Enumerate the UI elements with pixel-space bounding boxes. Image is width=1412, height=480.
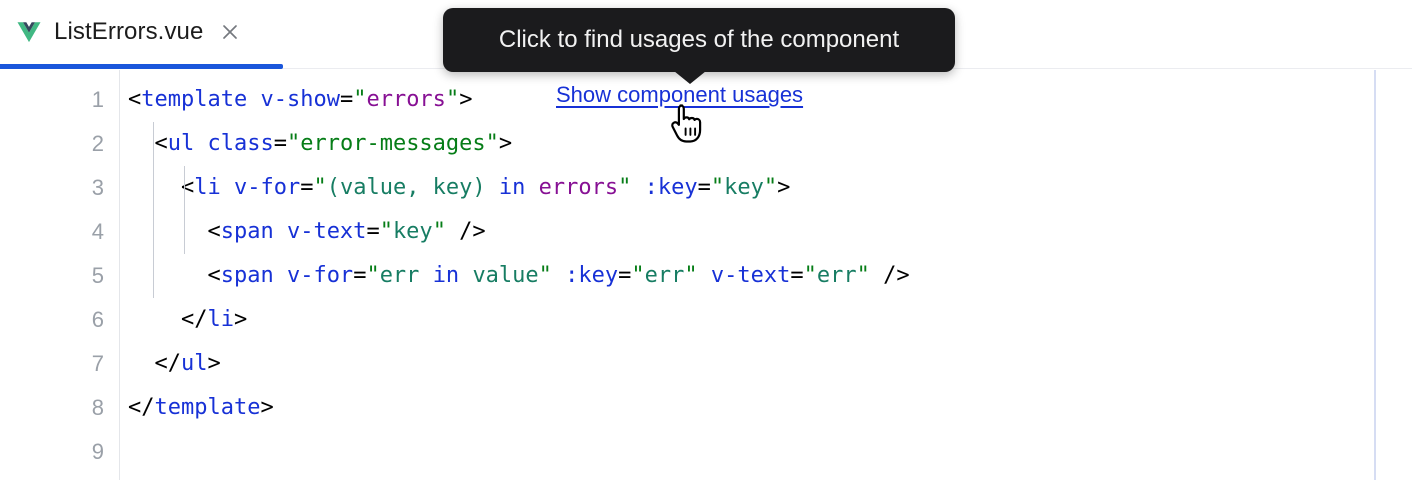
code-token: = (340, 87, 353, 112)
tooltip-arrow (674, 71, 706, 84)
code-line[interactable] (121, 430, 1412, 474)
code-token: errors (539, 175, 618, 200)
code-token (486, 175, 499, 200)
code-token (459, 263, 472, 288)
code-token (525, 175, 538, 200)
code-token: " (446, 87, 459, 112)
code-token: " (618, 175, 631, 200)
code-token (698, 263, 711, 288)
code-token: < (128, 131, 168, 156)
code-line[interactable]: <ul class="error-messages"> (121, 122, 1412, 166)
code-token: > (459, 87, 472, 112)
code-token: /> (870, 263, 910, 288)
vue-logo-icon (16, 19, 42, 45)
line-number: 3 (0, 166, 104, 210)
code-token: value (472, 263, 538, 288)
code-token: > (499, 131, 512, 156)
tooltip-popup: Click to find usages of the component (443, 8, 955, 72)
code-token: :key (565, 263, 618, 288)
code-token (194, 131, 207, 156)
line-number: 5 (0, 254, 104, 298)
line-number-column: 123456789 (0, 78, 104, 474)
close-icon[interactable] (219, 21, 241, 43)
code-token: " (857, 263, 870, 288)
code-line[interactable]: <li v-for="(value, key) in errors" :key=… (121, 166, 1412, 210)
code-token: /> (446, 219, 486, 244)
code-token: = (366, 219, 379, 244)
ide-editor-window: ListErrors.vue 123456789 <template v-sho… (0, 0, 1412, 480)
code-token: </ (128, 307, 207, 332)
code-token: " (684, 263, 697, 288)
line-number: 2 (0, 122, 104, 166)
code-token: v-show (260, 87, 339, 112)
code-token: < (128, 87, 141, 112)
code-line[interactable]: </template> (121, 386, 1412, 430)
code-token: class (208, 131, 274, 156)
code-token: v-for (234, 175, 300, 200)
tooltip-text: Click to find usages of the component (499, 26, 899, 54)
code-token: " (539, 263, 552, 288)
code-token (631, 175, 644, 200)
code-token: = (274, 131, 287, 156)
indent-guide (184, 166, 185, 254)
code-line[interactable]: <span v-for="err in value" :key="err" v-… (121, 254, 1412, 298)
code-token (274, 263, 287, 288)
line-number: 1 (0, 78, 104, 122)
code-token: "error-messages" (287, 131, 499, 156)
code-token: v-for (287, 263, 353, 288)
code-token (247, 87, 260, 112)
code-token (274, 219, 287, 244)
code-content[interactable]: <template v-show="errors"> <ul class="er… (121, 78, 1412, 474)
indent-guide (153, 122, 154, 298)
code-token: " (380, 219, 393, 244)
code-token: in (433, 263, 460, 288)
code-token: < (128, 263, 221, 288)
code-token: err (380, 263, 420, 288)
code-token: li (207, 307, 234, 332)
line-number: 8 (0, 386, 104, 430)
show-component-usages-link[interactable]: Show component usages (556, 82, 803, 108)
code-token: key (724, 175, 764, 200)
code-token: " (711, 175, 724, 200)
code-token: ul (181, 351, 208, 376)
code-token (221, 175, 234, 200)
code-token: ul (168, 131, 195, 156)
editor-tab-list-errors-vue[interactable]: ListErrors.vue (0, 0, 283, 64)
code-token: err (817, 263, 857, 288)
line-number: 6 (0, 298, 104, 342)
code-token: li (194, 175, 221, 200)
code-token (552, 263, 565, 288)
code-token: " (764, 175, 777, 200)
code-token: " (433, 219, 446, 244)
code-line[interactable]: </li> (121, 298, 1412, 342)
code-token: = (698, 175, 711, 200)
code-token: = (790, 263, 803, 288)
code-token: template (141, 87, 247, 112)
line-number: 9 (0, 430, 104, 474)
code-token: = (618, 263, 631, 288)
code-token: key (393, 219, 433, 244)
code-token: = (353, 263, 366, 288)
code-token: span (221, 219, 274, 244)
code-token: :key (645, 175, 698, 200)
code-token: " (804, 263, 817, 288)
code-token: </ (128, 351, 181, 376)
code-token: > (260, 395, 273, 420)
code-token (419, 263, 432, 288)
code-token: " (353, 87, 366, 112)
code-editor-area[interactable]: 123456789 <template v-show="errors"> <ul… (0, 70, 1412, 480)
code-token: < (128, 219, 221, 244)
code-token: > (207, 351, 220, 376)
code-token: v-text (711, 263, 790, 288)
code-token: in (499, 175, 526, 200)
code-line[interactable]: <span v-text="key" /> (121, 210, 1412, 254)
code-token: span (221, 263, 274, 288)
line-number: 7 (0, 342, 104, 386)
code-token: template (155, 395, 261, 420)
code-token: > (234, 307, 247, 332)
code-token: (value, key) (327, 175, 486, 200)
active-tab-indicator (0, 64, 283, 69)
code-token: err (645, 263, 685, 288)
code-token: " (313, 175, 326, 200)
code-token: " (631, 263, 644, 288)
code-token: " (366, 263, 379, 288)
code-token: > (777, 175, 790, 200)
editor-tab-label: ListErrors.vue (54, 18, 203, 46)
code-token: </ (128, 395, 155, 420)
editor-gutter[interactable]: 123456789 (0, 70, 120, 480)
code-line[interactable]: </ul> (121, 342, 1412, 386)
right-margin-guide (1374, 70, 1376, 480)
code-token: = (300, 175, 313, 200)
code-token: errors (366, 87, 445, 112)
code-token: v-text (287, 219, 366, 244)
line-number: 4 (0, 210, 104, 254)
